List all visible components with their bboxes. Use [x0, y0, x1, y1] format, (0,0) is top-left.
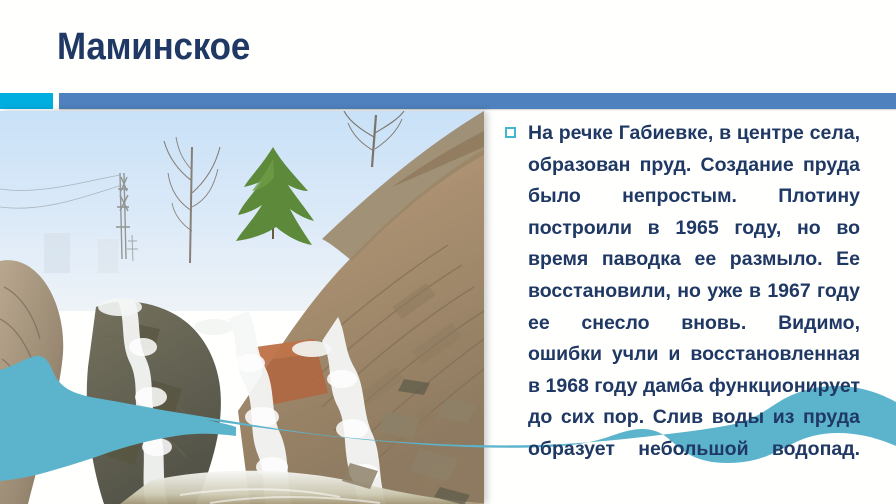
quarry-waterfall-photo [0, 111, 484, 504]
accent-square-cyan [0, 93, 53, 109]
list-item: На речке Габиевке, в центре села, образо… [504, 118, 860, 497]
body-paragraph: На речке Габиевке, в центре села, образо… [528, 118, 860, 497]
presentation-slide: Маминское [0, 0, 896, 504]
hollow-square-bullet-icon [505, 127, 516, 138]
accent-bar-blue [59, 93, 896, 109]
body-text-block: На речке Габиевке, в центре села, образо… [504, 118, 860, 497]
page-title: Маминское [57, 24, 250, 70]
